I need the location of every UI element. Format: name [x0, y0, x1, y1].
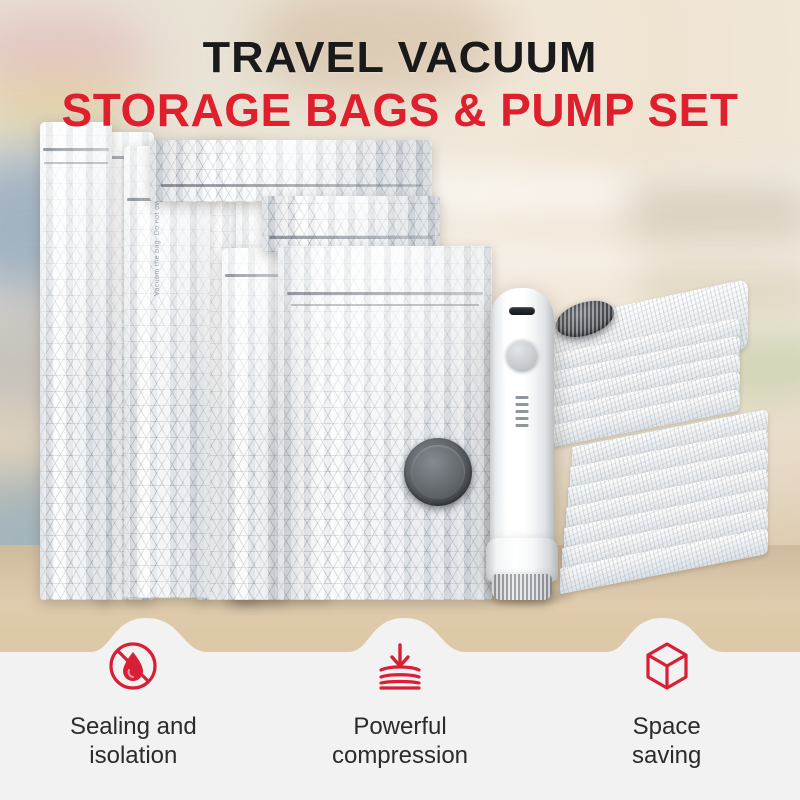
feature-label-space: Space saving: [632, 712, 701, 770]
electric-vacuum-pump: [486, 288, 558, 598]
feature-label-compression: Powerful compression: [332, 712, 468, 770]
ribbed-nozzle-adapter: [492, 574, 552, 600]
product-title-line-1: TRAVEL VACUUM: [0, 34, 800, 82]
bag-seal-line: [269, 236, 433, 239]
bag-seal-line: [225, 274, 284, 277]
feature-label-line-2: saving: [632, 741, 701, 770]
bag-seal-line: [287, 292, 484, 295]
vacuum-storage-bag-large: Vacuum the bag. Do not over stuff.: [124, 146, 210, 598]
feature-label-line-1: Space: [632, 712, 701, 741]
feature-label-line-1: Sealing and: [70, 712, 197, 741]
product-advertisement-image: TRAVEL VACUUM STORAGE BAGS & PUMP SET Va…: [0, 0, 800, 800]
feature-space-saving: Space saving: [533, 612, 800, 800]
cube-box-icon: [635, 634, 699, 698]
vacuum-storage-bag-xl: [40, 122, 112, 600]
led-bar: [516, 424, 529, 427]
led-bar: [516, 403, 529, 406]
product-title-line-2: STORAGE BAGS & PUMP SET: [0, 84, 800, 136]
power-button[interactable]: [506, 339, 539, 372]
vacuum-storage-bag-front-mid: [262, 196, 440, 252]
led-bar: [516, 396, 529, 399]
feature-label-line-1: Powerful: [332, 712, 468, 741]
air-valve-ring: [411, 445, 465, 499]
feature-powerful-compression: Powerful compression: [267, 612, 534, 800]
feature-panel: Sealing and isolation Powerfu: [0, 612, 800, 800]
title-block: TRAVEL VACUUM STORAGE BAGS & PUMP SET: [0, 34, 800, 136]
feature-sealing-isolation: Sealing and isolation: [0, 612, 267, 800]
feature-label-sealing: Sealing and isolation: [70, 712, 197, 770]
feature-label-line-2: compression: [332, 741, 468, 770]
feature-list: Sealing and isolation Powerfu: [0, 612, 800, 800]
folded-bag-stack: [548, 296, 800, 608]
bag-seal-line: [43, 148, 109, 151]
usb-c-port-icon: [509, 307, 535, 315]
background-towel-1: [630, 180, 800, 240]
bag-seal-line: [161, 184, 420, 187]
vacuum-storage-bag-small: [222, 248, 286, 600]
compression-arrow-icon: [368, 634, 432, 698]
feature-label-line-2: isolation: [70, 741, 197, 770]
air-valve-cap: [404, 438, 472, 506]
bag-seal-line-secondary: [44, 162, 107, 164]
led-bar: [516, 410, 529, 413]
vacuum-storage-bag-front-low: [278, 246, 492, 600]
no-water-drop-icon: [101, 634, 165, 698]
led-bar: [516, 417, 529, 420]
bag-seal-line-secondary: [291, 304, 479, 306]
battery-led-indicator: [516, 396, 529, 431]
vacuum-storage-bag-front-top: [150, 140, 432, 202]
